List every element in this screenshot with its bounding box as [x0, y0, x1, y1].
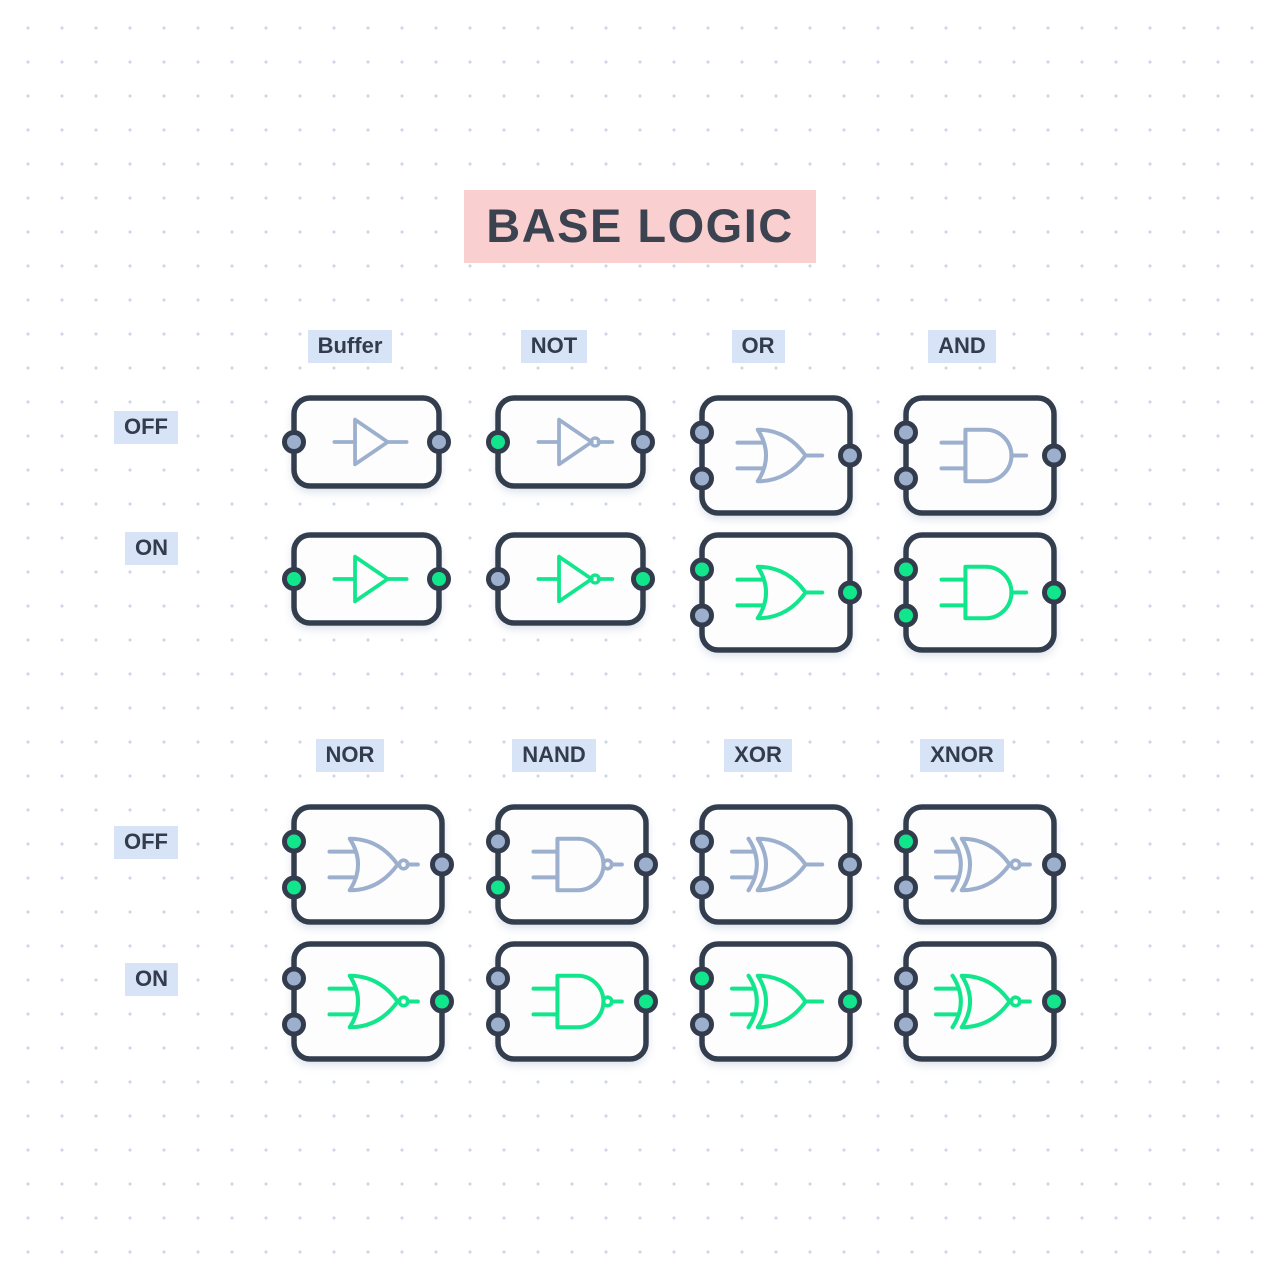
gate-input-port-2[interactable] [897, 469, 916, 488]
gate-and-off[interactable] [888, 380, 1072, 531]
gate-column-label-xor: XOR [658, 739, 858, 772]
gate-output-port[interactable] [841, 855, 860, 874]
gate-xor-off[interactable] [684, 789, 868, 940]
diagram-canvas: BASE LOGIC BufferNOTORANDNORNANDXORXNORO… [0, 0, 1280, 1280]
gate-output-port[interactable] [1045, 855, 1064, 874]
row-state-label-off: OFF [58, 410, 178, 444]
gate-input-port-2[interactable] [897, 606, 916, 625]
gate-column-label-and: AND [862, 330, 1062, 363]
row-state-label-off: OFF [58, 825, 178, 859]
gate-name-chip: XNOR [920, 739, 1004, 772]
gate-nor-on[interactable] [276, 926, 460, 1077]
gate-input-port-1[interactable] [285, 433, 304, 452]
gate-input-port-2[interactable] [285, 878, 304, 897]
gate-output-port[interactable] [430, 433, 449, 452]
gate-output-port[interactable] [841, 583, 860, 602]
gate-name-chip: NOR [316, 739, 385, 772]
gate-output-port[interactable] [433, 855, 452, 874]
gate-input-port-1[interactable] [693, 560, 712, 579]
gate-column-label-nand: NAND [454, 739, 654, 772]
gate-or-on[interactable] [684, 517, 868, 668]
gate-name-chip: Buffer [308, 330, 393, 363]
gate-nor-off[interactable] [276, 789, 460, 940]
gate-input-port-1[interactable] [693, 832, 712, 851]
gate-input-port-1[interactable] [285, 570, 304, 589]
gate-input-port-1[interactable] [489, 570, 508, 589]
gate-body [906, 535, 1054, 650]
gate-input-port-1[interactable] [489, 433, 508, 452]
gate-output-port[interactable] [634, 433, 653, 452]
state-chip: ON [125, 532, 178, 565]
gate-not-on[interactable] [480, 517, 661, 641]
gate-body [498, 398, 643, 486]
gate-body [702, 944, 850, 1059]
gate-name-chip: NOT [521, 330, 587, 363]
gate-output-port[interactable] [637, 992, 656, 1011]
gate-column-label-not: NOT [454, 330, 654, 363]
gate-input-port-2[interactable] [285, 1015, 304, 1034]
gate-input-port-2[interactable] [897, 878, 916, 897]
gate-input-port-1[interactable] [897, 832, 916, 851]
gate-column-label-buffer: Buffer [250, 330, 450, 363]
gate-input-port-1[interactable] [693, 969, 712, 988]
gate-input-port-2[interactable] [489, 1015, 508, 1034]
gate-input-port-1[interactable] [693, 423, 712, 442]
gate-input-port-1[interactable] [897, 560, 916, 579]
state-chip: ON [125, 963, 178, 996]
gate-input-port-2[interactable] [693, 606, 712, 625]
gate-input-port-1[interactable] [897, 969, 916, 988]
page-title: BASE LOGIC [464, 190, 815, 263]
gate-column-label-or: OR [658, 330, 858, 363]
gate-input-port-1[interactable] [897, 423, 916, 442]
gate-buffer-on[interactable] [276, 517, 457, 641]
gate-output-port[interactable] [637, 855, 656, 874]
gate-input-port-2[interactable] [693, 1015, 712, 1034]
gate-input-port-1[interactable] [489, 969, 508, 988]
gate-name-chip: AND [928, 330, 996, 363]
gate-body [294, 398, 439, 486]
title-banner: BASE LOGIC [0, 190, 1280, 263]
gate-and-on[interactable] [888, 517, 1072, 668]
gate-input-port-2[interactable] [897, 1015, 916, 1034]
gate-input-port-2[interactable] [489, 878, 508, 897]
gate-input-port-2[interactable] [693, 469, 712, 488]
gate-output-port[interactable] [1045, 992, 1064, 1011]
gate-xnor-on[interactable] [888, 926, 1072, 1077]
gate-body [702, 535, 850, 650]
gate-body [702, 807, 850, 922]
gate-input-port-1[interactable] [489, 832, 508, 851]
gate-nand-off[interactable] [480, 789, 664, 940]
gate-body [702, 398, 850, 513]
state-chip: OFF [114, 826, 178, 859]
gate-xor-on[interactable] [684, 926, 868, 1077]
gate-body [906, 398, 1054, 513]
gate-output-port[interactable] [634, 570, 653, 589]
gate-output-port[interactable] [433, 992, 452, 1011]
gate-body [498, 535, 643, 623]
gate-input-port-2[interactable] [693, 878, 712, 897]
gate-xnor-off[interactable] [888, 789, 1072, 940]
gate-output-port[interactable] [841, 446, 860, 465]
gate-output-port[interactable] [1045, 446, 1064, 465]
gate-input-port-1[interactable] [285, 969, 304, 988]
row-state-label-on: ON [58, 962, 178, 996]
gate-name-chip: NAND [512, 739, 596, 772]
gate-body [294, 535, 439, 623]
gate-name-chip: XOR [724, 739, 792, 772]
gate-output-port[interactable] [430, 570, 449, 589]
gate-output-port[interactable] [841, 992, 860, 1011]
gate-buffer-off[interactable] [276, 380, 457, 504]
gate-or-off[interactable] [684, 380, 868, 531]
gate-input-port-1[interactable] [285, 832, 304, 851]
gate-column-label-xnor: XNOR [862, 739, 1062, 772]
row-state-label-on: ON [58, 531, 178, 565]
gate-column-label-nor: NOR [250, 739, 450, 772]
state-chip: OFF [114, 411, 178, 444]
gate-nand-on[interactable] [480, 926, 664, 1077]
gate-name-chip: OR [732, 330, 785, 363]
gate-not-off[interactable] [480, 380, 661, 504]
gate-output-port[interactable] [1045, 583, 1064, 602]
